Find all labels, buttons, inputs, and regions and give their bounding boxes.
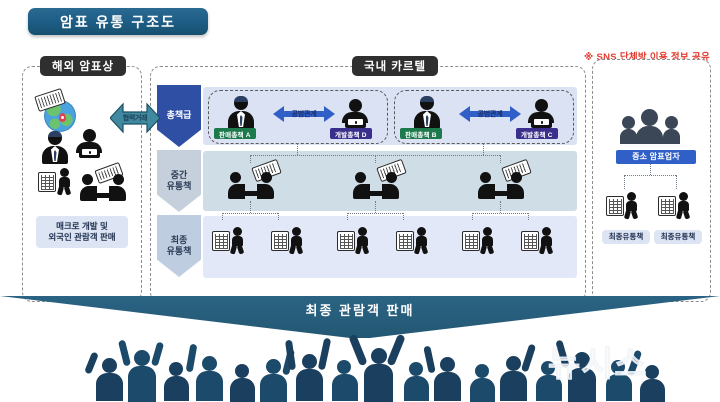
ticket-stack-icon <box>396 231 414 251</box>
seller-a-icon <box>228 96 254 129</box>
person-head <box>261 172 272 183</box>
small-final-distributor-2 <box>675 192 692 218</box>
small-dealer-label: 중소 암표업자 <box>616 150 696 164</box>
connector-line <box>347 213 348 220</box>
handshake-arms <box>92 193 114 198</box>
connector-line <box>375 155 376 163</box>
laptop-icon <box>531 117 552 128</box>
badge-seller-b: 판매총책 B <box>400 128 442 139</box>
connector-line <box>483 143 484 155</box>
badge-developer-d: 개발총책 D <box>330 128 372 139</box>
final-distributor-1 <box>229 227 246 253</box>
ticket-stack-icon <box>337 231 355 251</box>
handshake-arms <box>240 191 262 196</box>
accomplice-label-a: 공범관계 <box>273 104 335 124</box>
person-head <box>511 172 522 183</box>
connector-line <box>222 213 223 220</box>
ticket-stack-icon <box>606 196 624 216</box>
connector-line <box>650 164 651 175</box>
overseas-caption-line1: 매크로 개발 및 <box>56 221 108 231</box>
person-head <box>358 227 367 236</box>
connector-line <box>403 213 404 220</box>
map-pin-icon <box>59 113 66 122</box>
ticket-stack-icon <box>212 231 230 251</box>
person-head <box>83 129 96 142</box>
developer-c-icon <box>528 99 554 129</box>
person-hair <box>48 131 62 137</box>
connector-line <box>624 175 625 189</box>
overseas-walker-icon <box>56 168 73 194</box>
connector-line <box>472 213 528 214</box>
connector-line <box>347 213 403 214</box>
person-head <box>386 172 397 183</box>
person-body <box>663 129 680 144</box>
person-head <box>355 172 366 183</box>
person-head <box>665 116 678 129</box>
connector-line <box>222 213 278 214</box>
person-head <box>627 192 636 201</box>
middle-handshake-1 <box>228 172 274 200</box>
person-head <box>542 227 551 236</box>
person-head <box>230 172 241 183</box>
stage-label-middle-line1: 중간 <box>171 170 188 180</box>
person-head <box>679 192 688 201</box>
laptop-icon <box>345 117 366 128</box>
person-head <box>641 109 658 126</box>
ticket-stack-icon <box>658 196 676 216</box>
developer-d-icon <box>342 99 368 129</box>
overseas-handshake-icon <box>80 174 126 202</box>
final-distributor-3 <box>354 227 371 253</box>
connector-line <box>676 175 677 189</box>
person-head <box>480 172 491 183</box>
small-distributor-label-1: 최종유통책 <box>602 230 650 244</box>
final-distributor-4 <box>413 227 430 253</box>
stage-label-bottom-line2: 유통책 <box>167 246 192 256</box>
accomplice-label-b: 공범관계 <box>459 104 521 124</box>
badge-developer-c: 개발총책 C <box>516 128 558 139</box>
small-distributor-label-2: 최종유통책 <box>654 230 702 244</box>
infographic-canvas: 암표 유통 구조도 ※ SNS 단체방 이용 정보 공유 해외 암표상 국내 카… <box>0 0 720 401</box>
overseas-caption-line2: 외국인 관람객 판매 <box>48 232 115 242</box>
handshake-arms <box>365 191 387 196</box>
connector-line <box>297 143 298 155</box>
person-head <box>417 227 426 236</box>
overseas-caption: 매크로 개발 및 외국인 관람객 판매 <box>36 216 128 248</box>
ticket-stack-icon <box>271 231 289 251</box>
person-head <box>113 174 124 185</box>
stage-label-bottom-line1: 최종 <box>171 235 188 245</box>
connector-line <box>528 213 529 220</box>
person-head <box>82 174 93 185</box>
person-head <box>60 168 69 177</box>
person-hair <box>234 96 248 102</box>
person-head <box>483 227 492 236</box>
connector-line <box>375 201 376 213</box>
cooperation-label: 협력거래 <box>110 98 160 138</box>
handshake-arms <box>490 191 512 196</box>
cooperation-arrow: 협력거래 <box>110 98 160 138</box>
person-body <box>636 126 663 144</box>
person-head <box>622 116 635 129</box>
stage-label-middle-line2: 유통책 <box>167 181 192 191</box>
person-body <box>620 129 637 144</box>
accomplice-arrow-a: 공범관계 <box>273 104 335 124</box>
final-distributor-5 <box>479 227 496 253</box>
connector-line <box>250 201 251 213</box>
accomplice-arrow-b: 공범관계 <box>459 104 521 124</box>
final-sale-label: 최종 관람객 판매 <box>0 298 720 320</box>
final-distributor-6 <box>538 227 555 253</box>
small-final-distributor-1 <box>623 192 640 218</box>
stage-label-top: 총책급 <box>167 110 192 121</box>
audience-crowd <box>0 330 720 401</box>
panel-overseas-tag: 해외 암표상 <box>40 56 126 76</box>
ticket-stack-icon <box>462 231 480 251</box>
ticket-stack-icon <box>38 172 56 192</box>
badge-seller-a: 판매총책 A <box>214 128 256 139</box>
middle-handshake-2 <box>353 172 399 200</box>
connector-line <box>500 201 501 213</box>
overseas-seller-icon <box>42 131 68 164</box>
overseas-developer-icon <box>76 129 102 159</box>
panel-cartel-tag: 국내 카르텔 <box>352 56 438 76</box>
person-head <box>233 227 242 236</box>
seller-b-icon <box>414 96 440 129</box>
connector-line <box>250 155 251 163</box>
small-dealer-group-icon <box>620 108 680 144</box>
person-head <box>349 99 362 112</box>
connector-line <box>500 155 501 163</box>
connector-line <box>472 213 473 220</box>
connector-line <box>624 175 676 176</box>
person-head <box>535 99 548 112</box>
panel-small-dealers <box>592 59 711 302</box>
person-hair <box>420 96 434 102</box>
connector-line <box>278 213 279 220</box>
laptop-icon <box>79 147 100 158</box>
page-title: 암표 유통 구조도 <box>28 8 208 35</box>
middle-handshake-3 <box>478 172 524 200</box>
person-head <box>292 227 301 236</box>
final-distributor-2 <box>288 227 305 253</box>
ticket-stack-icon <box>521 231 539 251</box>
